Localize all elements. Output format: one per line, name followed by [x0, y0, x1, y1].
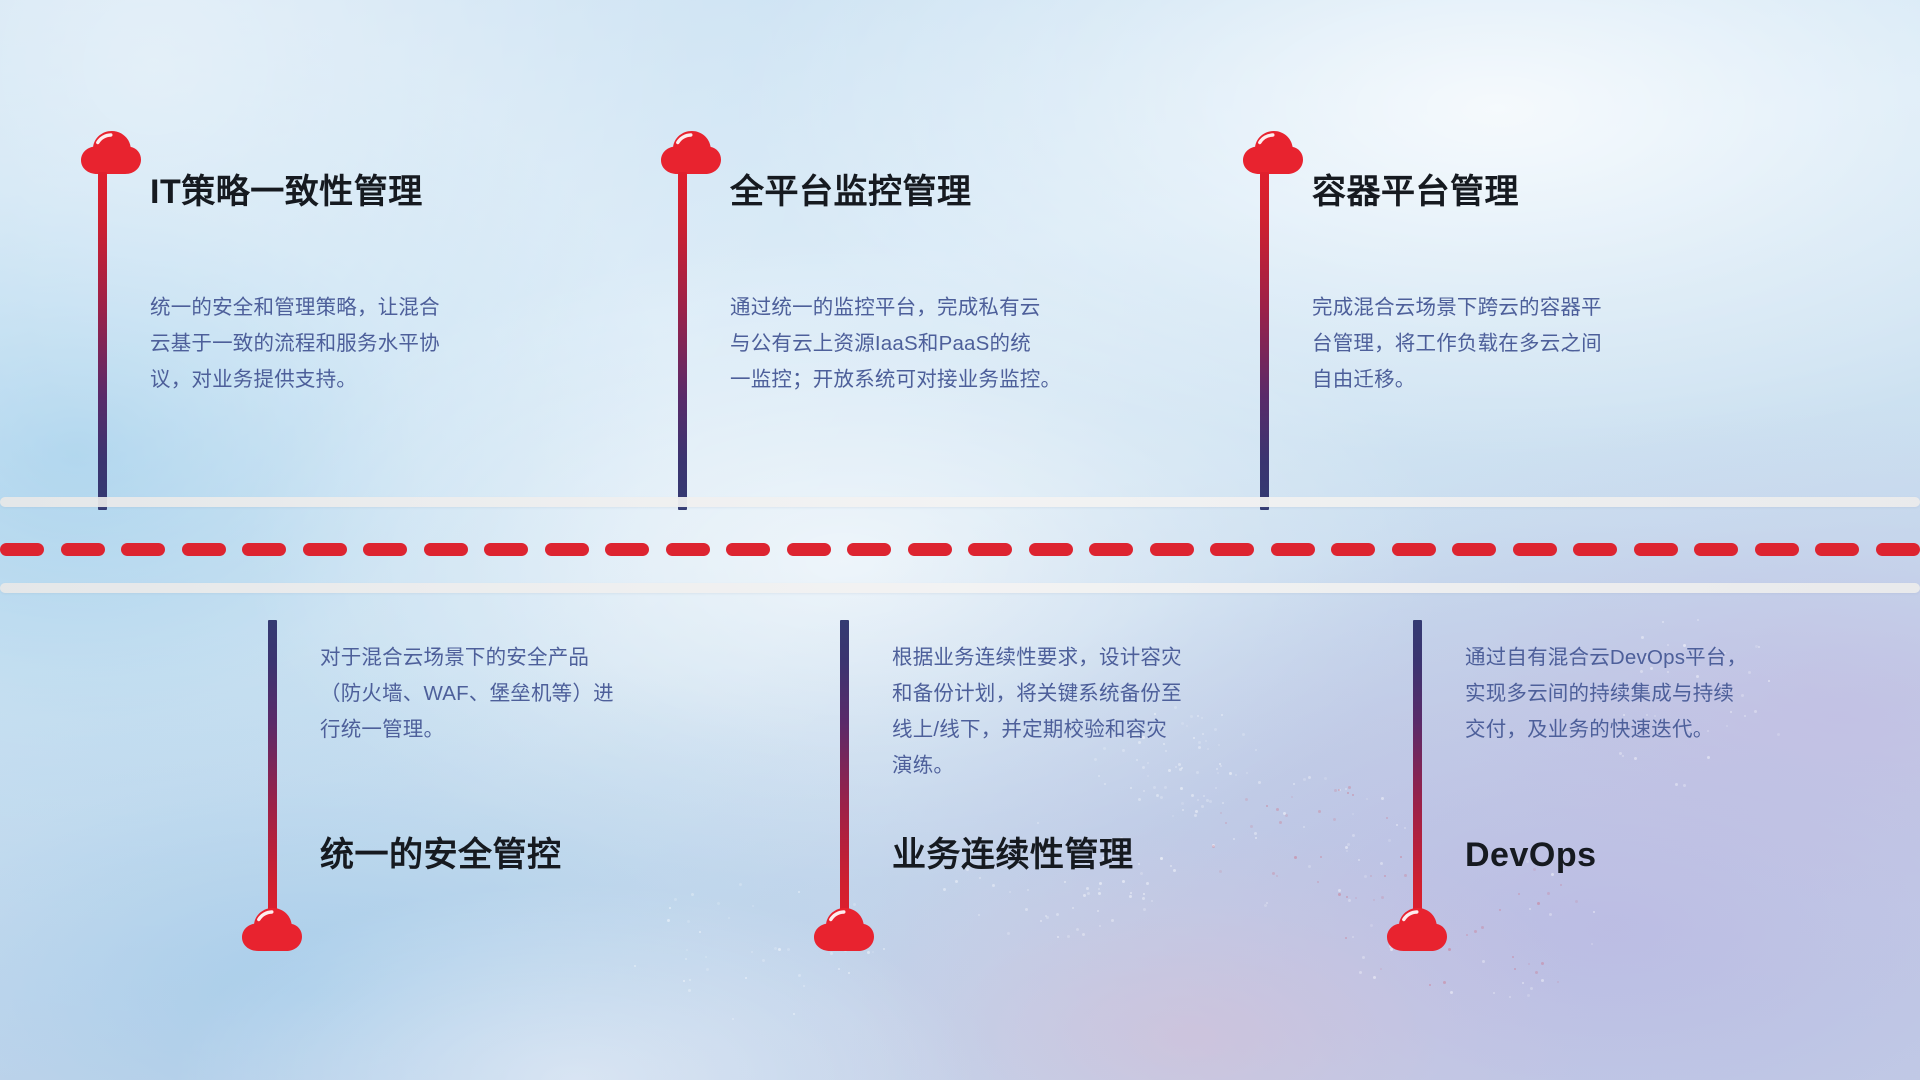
card-title: 统一的安全管控 [320, 835, 562, 876]
road-dash-segment [545, 543, 589, 556]
road-dash-segment [605, 543, 649, 556]
decorative-dot [1122, 880, 1125, 883]
decorative-dot [778, 948, 781, 951]
decorative-dot [634, 965, 636, 967]
decorative-dot [1057, 936, 1059, 938]
road-dash-segment [1513, 543, 1557, 556]
decorative-dot [1697, 619, 1699, 621]
road-dash-segment [121, 543, 165, 556]
decorative-dot [1352, 936, 1354, 938]
decorative-dot [1522, 982, 1524, 984]
decorative-dot [1255, 837, 1257, 839]
decorative-dot [1283, 812, 1286, 815]
decorative-dot [978, 914, 980, 916]
body-line: 演练。 [892, 748, 1252, 784]
road-dash-segment [424, 543, 468, 556]
cloud-icon [660, 130, 722, 176]
body-line: 交付，及业务的快速迭代。 [1465, 712, 1825, 748]
decorative-dot [1143, 893, 1145, 895]
decorative-dot [1358, 859, 1360, 861]
decorative-dot [1195, 810, 1198, 813]
decorative-dot [1339, 789, 1341, 791]
decorative-dot [1474, 930, 1477, 933]
decorative-dot [1373, 976, 1376, 979]
decorative-dot [1530, 987, 1533, 990]
road-dash-segment [242, 543, 286, 556]
body-line: 统一的安全和管理策略，让混合 [150, 290, 510, 326]
decorative-dot [1386, 817, 1388, 819]
decorative-dot [1529, 908, 1531, 910]
decorative-dot [1388, 839, 1391, 842]
decorative-dot [1549, 913, 1552, 916]
decorative-dot [1040, 920, 1042, 922]
decorative-dot [1181, 802, 1184, 805]
decorative-dot [1143, 908, 1146, 911]
decorative-dot [774, 947, 777, 950]
decorative-dot [1303, 778, 1306, 781]
body-line: 对于混合云场景下的安全产品 [320, 640, 680, 676]
decorative-dot [1219, 870, 1222, 873]
decorative-dot [699, 931, 701, 933]
decorative-dot [838, 968, 840, 970]
decorative-dot [1557, 981, 1559, 983]
decorative-dot [1509, 996, 1511, 998]
decorative-dot [1345, 788, 1347, 790]
decorative-dot [1619, 752, 1622, 755]
decorative-dot [1380, 862, 1383, 865]
decorative-dot [1191, 794, 1194, 797]
body-line: （防火墙、WAF、堡垒机等）进 [320, 676, 680, 712]
decorative-dot [1222, 802, 1224, 804]
road-dash-segment [1694, 543, 1738, 556]
decorative-dot [1514, 968, 1516, 970]
decorative-dot [1220, 812, 1222, 814]
decorative-dot [1209, 800, 1212, 803]
decorative-dot [686, 949, 688, 951]
body-line: 完成混合云场景下跨云的容器平 [1312, 290, 1672, 326]
decorative-dot [1345, 846, 1348, 849]
connector-stem [1413, 620, 1422, 920]
decorative-dot [1291, 796, 1293, 798]
decorative-dot [1138, 863, 1140, 865]
decorative-dot [1182, 809, 1184, 811]
card-body: 统一的安全和管理策略，让混合 云基于一致的流程和服务水平协 议，对业务提供支持。 [150, 290, 510, 398]
road-center-dashes [0, 543, 1920, 556]
connector-stem [678, 172, 687, 510]
decorative-dot [1707, 756, 1710, 759]
decorative-dot [1537, 902, 1540, 905]
decorative-dot [717, 902, 720, 905]
decorative-dot [1151, 900, 1153, 902]
decorative-dot [1072, 907, 1074, 909]
road-dash-segment [363, 543, 407, 556]
decorative-dot [1160, 796, 1163, 799]
decorative-dot [1338, 889, 1341, 892]
decorative-dot [943, 888, 946, 891]
decorative-dot [1683, 784, 1686, 787]
decorative-dot [1320, 856, 1322, 858]
decorative-dot [1334, 789, 1337, 792]
body-line: 线上/线下，并定期校验和容灾 [892, 712, 1252, 748]
decorative-dot [1560, 884, 1562, 886]
road-dash-segment [182, 543, 226, 556]
decorative-dot [1285, 814, 1288, 817]
decorative-dot [1541, 979, 1544, 982]
decorative-dot [1025, 908, 1028, 911]
decorative-dot [1266, 902, 1268, 904]
decorative-dot [1308, 776, 1311, 779]
road-dash-segment [847, 543, 891, 556]
decorative-dot [787, 948, 790, 951]
decorative-dot [1045, 915, 1047, 917]
decorative-dot [1380, 968, 1382, 970]
body-line: 云基于一致的流程和服务水平协 [150, 326, 510, 362]
decorative-dot [1448, 948, 1451, 951]
body-line: 和备份计划，将关键系统备份至 [892, 676, 1252, 712]
road-dash-segment [303, 543, 347, 556]
decorative-dot [1364, 875, 1367, 878]
card-body: 通过统一的监控平台，完成私有云 与公有云上资源IaaS和PaaS的统 一监控；开… [730, 290, 1110, 398]
decorative-dot [1087, 892, 1090, 895]
decorative-dot [1255, 749, 1257, 751]
road-dash-segment [1452, 543, 1496, 556]
connector-stem [268, 620, 277, 920]
decorative-dot [1346, 850, 1348, 852]
card-title: 业务连续性管理 [892, 835, 1134, 876]
decorative-dot [1593, 911, 1595, 913]
decorative-dot [1294, 856, 1297, 859]
decorative-dot [1675, 783, 1678, 786]
decorative-dot [803, 985, 805, 987]
road-dash-segment [1815, 543, 1859, 556]
decorative-dot [1527, 994, 1530, 997]
decorative-dot [685, 958, 687, 960]
decorative-dot [751, 951, 753, 953]
cloud-icon [1386, 907, 1448, 953]
decorative-dot [1201, 805, 1204, 808]
decorative-dot [1197, 799, 1199, 801]
decorative-dot [1225, 822, 1227, 824]
decorative-dot [1622, 755, 1624, 757]
decorative-dot [1233, 838, 1235, 840]
decorative-dot [1481, 926, 1484, 929]
decorative-dot [1303, 826, 1305, 828]
decorative-dot [1466, 934, 1468, 936]
road-dash-segment [787, 543, 831, 556]
card-body: 对于混合云场景下的安全产品 （防火墙、WAF、堡垒机等）进 行统一管理。 [320, 640, 680, 748]
decorative-dot [1083, 894, 1086, 897]
decorative-dot [1266, 805, 1268, 807]
decorative-dot [1366, 798, 1368, 800]
decorative-dot [1352, 813, 1354, 815]
road-dash-segment [484, 543, 528, 556]
decorative-dot [674, 898, 677, 901]
road-dash-segment [1089, 543, 1133, 556]
decorative-dot [1098, 888, 1100, 890]
decorative-dot [1355, 897, 1357, 899]
decorative-dot [752, 905, 754, 907]
decorative-dot [1499, 909, 1501, 911]
decorative-dot [1276, 808, 1279, 811]
decorative-dot [762, 959, 765, 962]
decorative-dot [745, 977, 747, 979]
decorative-dot [1359, 971, 1362, 974]
decorative-dot [1098, 892, 1101, 895]
decorative-dot [1009, 891, 1011, 893]
road-dash-segment [726, 543, 770, 556]
decorative-dot [1482, 960, 1485, 963]
decorative-dot [1160, 857, 1163, 860]
card-title: 容器平台管理 [1312, 172, 1519, 213]
decorative-dot [1575, 900, 1578, 903]
decorative-dot [667, 919, 670, 922]
decorative-dot [979, 877, 981, 879]
decorative-dot [1206, 799, 1209, 802]
decorative-dot [1082, 933, 1085, 936]
decorative-dot [1370, 924, 1373, 927]
decorative-dot [1404, 827, 1406, 829]
decorative-dot [1153, 786, 1156, 789]
decorative-dot [1396, 824, 1398, 826]
card-body: 根据业务连续性要求，设计容灾 和备份计划，将关键系统备份至 线上/线下，并定期校… [892, 640, 1252, 784]
decorative-dot [1347, 843, 1350, 846]
decorative-dot [1140, 872, 1143, 875]
decorative-dot [1064, 881, 1066, 883]
decorative-dot [1258, 781, 1261, 784]
decorative-dot [1518, 893, 1520, 895]
decorative-dot [1037, 822, 1039, 824]
decorative-dot [1308, 865, 1311, 868]
decorative-dot [1348, 786, 1351, 789]
decorative-dot [1547, 892, 1550, 895]
decorative-dot [1352, 794, 1354, 796]
road-edge-top [0, 497, 1920, 507]
decorative-dot [1634, 757, 1637, 760]
decorative-dot [1318, 810, 1321, 813]
decorative-dot [1067, 935, 1070, 938]
decorative-dot [687, 920, 690, 923]
decorative-dot [1528, 963, 1530, 965]
decorative-dot [1591, 943, 1593, 945]
decorative-dot [1172, 815, 1174, 817]
card-title: IT策略一致性管理 [150, 172, 423, 213]
decorative-dot [688, 989, 691, 992]
decorative-dot [1143, 790, 1145, 792]
decorative-dot [848, 972, 850, 974]
decorative-dot [1662, 621, 1664, 623]
decorative-dot [1142, 897, 1145, 900]
decorative-dot [1279, 821, 1282, 824]
connector-stem [1260, 172, 1269, 510]
decorative-dot [1293, 783, 1295, 785]
decorative-dot [1346, 896, 1348, 898]
decorative-dot [1130, 787, 1132, 789]
cloud-icon [1242, 130, 1304, 176]
card-title: 全平台监控管理 [730, 172, 972, 213]
decorative-dot [955, 880, 958, 883]
decorative-dot [1429, 984, 1431, 986]
decorative-dot [1212, 845, 1215, 848]
decorative-dot [1333, 818, 1336, 821]
decorative-dot [1007, 932, 1010, 935]
decorative-dot [1338, 893, 1341, 896]
decorative-dot [1146, 882, 1149, 885]
decorative-dot [732, 1018, 734, 1020]
decorative-dot [1352, 834, 1355, 837]
decorative-dot [1348, 899, 1351, 902]
decorative-dot [1345, 937, 1347, 939]
decorative-dot [1641, 636, 1644, 639]
decorative-dot [1056, 913, 1059, 916]
body-line: 自由迁移。 [1312, 362, 1672, 398]
road-dash-segment [968, 543, 1012, 556]
decorative-dot [1250, 825, 1253, 828]
decorative-dot [1076, 928, 1079, 931]
decorative-dot [883, 948, 885, 950]
connector-stem [840, 620, 849, 920]
decorative-dot [1212, 844, 1215, 847]
body-line: 台管理，将工作负载在多云之间 [1312, 326, 1672, 362]
decorative-dot [1272, 872, 1275, 875]
decorative-dot [1099, 882, 1102, 885]
decorative-dot [1324, 777, 1327, 780]
cloud-icon [241, 907, 303, 953]
decorative-dot [853, 903, 856, 906]
card-title: DevOps [1465, 835, 1597, 876]
decorative-dot [1215, 787, 1217, 789]
decorative-dot [1203, 795, 1205, 797]
decorative-dot [793, 1013, 795, 1015]
decorative-dot [1245, 798, 1248, 801]
decorative-dot [1535, 971, 1538, 974]
decorative-dot [1443, 981, 1446, 984]
decorative-dot [798, 974, 801, 977]
road-dash-segment [1029, 543, 1073, 556]
cloud-icon [813, 907, 875, 953]
decorative-dot [798, 891, 800, 893]
road-dash-segment [1876, 543, 1920, 556]
road-dash-segment [61, 543, 105, 556]
decorative-dot [992, 884, 995, 887]
decorative-dot [1164, 786, 1167, 789]
cloud-icon [80, 130, 142, 176]
decorative-dot [1194, 814, 1197, 817]
decorative-dot [705, 956, 707, 958]
road-dash-segment [908, 543, 952, 556]
decorative-dot [1493, 992, 1495, 994]
road-dash-segment [1573, 543, 1617, 556]
card-body: 完成混合云场景下跨云的容器平 台管理，将工作负载在多云之间 自由迁移。 [1312, 290, 1672, 398]
decorative-dot [1362, 956, 1365, 959]
decorative-dot [1173, 869, 1176, 872]
decorative-dot [739, 883, 742, 886]
body-line: 实现多云间的持续集成与持续 [1465, 676, 1825, 712]
decorative-dot [1512, 956, 1514, 958]
decorative-dot [1404, 874, 1407, 877]
decorative-dot [1160, 857, 1163, 860]
decorative-dot [1370, 875, 1372, 877]
decorative-dot [1086, 887, 1089, 890]
decorative-dot [1450, 991, 1453, 994]
decorative-dot [1156, 794, 1159, 797]
decorative-dot [1400, 856, 1402, 858]
decorative-dot [1276, 875, 1278, 877]
decorative-dot [1027, 889, 1029, 891]
body-line: 行统一管理。 [320, 712, 680, 748]
connector-stem [98, 172, 107, 510]
body-line: 通过统一的监控平台，完成私有云 [730, 290, 1110, 326]
decorative-dot [1381, 896, 1384, 899]
decorative-dot [706, 968, 709, 971]
decorative-dot [689, 979, 691, 981]
decorative-dot [1138, 798, 1141, 801]
road-dash-segment [666, 543, 710, 556]
decorative-dot [1097, 910, 1099, 912]
road-dash-segment [1634, 543, 1678, 556]
decorative-dot [1264, 904, 1267, 907]
decorative-dot [1111, 919, 1114, 922]
road-dash-segment [0, 543, 44, 556]
road-dash-segment [1271, 543, 1315, 556]
decorative-dot [1129, 895, 1132, 898]
decorative-dot [1373, 899, 1375, 901]
road-dash-segment [1331, 543, 1375, 556]
decorative-dot [1130, 892, 1132, 894]
body-line: 议，对业务提供支持。 [150, 362, 510, 398]
decorative-dot [669, 907, 671, 909]
decorative-dot [1170, 865, 1172, 867]
decorative-dot [1338, 789, 1340, 791]
decorative-dot [683, 980, 685, 982]
road-dash-segment [1755, 543, 1799, 556]
road-dash-segment [1150, 543, 1194, 556]
card-body: 通过自有混合云DevOps平台， 实现多云间的持续集成与持续 交付，及业务的快速… [1465, 640, 1825, 748]
body-line: 通过自有混合云DevOps平台， [1465, 640, 1825, 676]
infographic-canvas: IT策略一致性管理 统一的安全和管理策略，让混合 云基于一致的流程和服务水平协 … [0, 0, 1920, 1080]
road-dash-segment [1210, 543, 1254, 556]
body-line: 与公有云上资源IaaS和PaaS的统 [730, 326, 1110, 362]
decorative-dot [1384, 875, 1386, 877]
decorative-dot [1099, 925, 1101, 927]
road-edge-bottom [0, 583, 1920, 593]
road-dash-segment [1392, 543, 1436, 556]
decorative-dot [1254, 832, 1257, 835]
body-line: 一监控；开放系统可对接业务监控。 [730, 362, 1110, 398]
decorative-dot [1381, 797, 1384, 800]
decorative-dot [1347, 792, 1349, 794]
decorative-dot [1317, 881, 1319, 883]
decorative-dot [1046, 916, 1049, 919]
decorative-dot [1541, 962, 1544, 965]
body-line: 根据业务连续性要求，设计容灾 [892, 640, 1252, 676]
decorative-dot [728, 917, 730, 919]
decorative-dot [691, 893, 694, 896]
decorative-dot [1180, 787, 1183, 790]
